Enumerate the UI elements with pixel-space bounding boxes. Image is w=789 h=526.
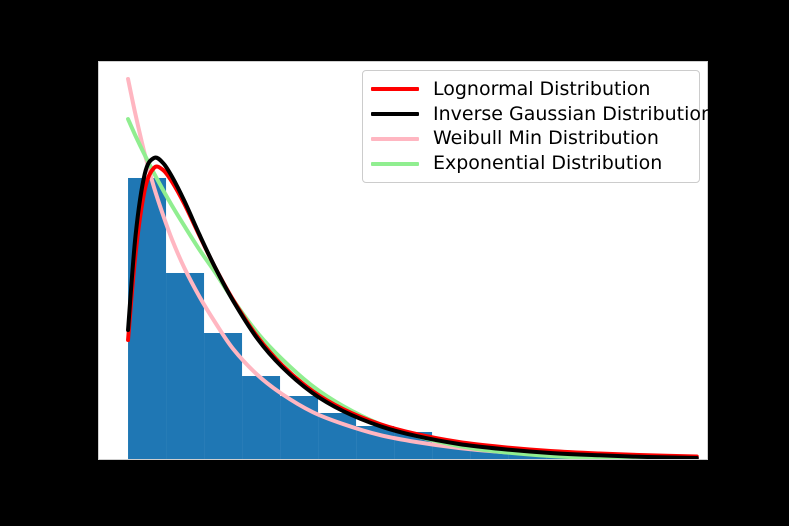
legend-swatch-weibull-min (371, 137, 419, 141)
legend-label-weibull-min: Weibull Min Distribution (433, 129, 659, 148)
legend-swatch-exponential (371, 162, 419, 166)
legend-label-lognormal: Lognormal Distribution (433, 80, 650, 99)
histogram-bar (660, 459, 698, 460)
histogram-bar (166, 273, 204, 460)
legend-swatch-lognormal (371, 87, 419, 91)
chart-canvas: Lognormal Distribution Inverse Gaussian … (0, 0, 789, 526)
chart-legend: Lognormal Distribution Inverse Gaussian … (362, 70, 700, 183)
legend-swatch-inverse-gaussian (371, 112, 419, 116)
legend-item-weibull-min[interactable]: Weibull Min Distribution (371, 127, 689, 152)
legend-item-exponential[interactable]: Exponential Distribution (371, 151, 689, 176)
legend-item-inverse-gaussian[interactable]: Inverse Gaussian Distribution (371, 102, 689, 127)
legend-label-exponential: Exponential Distribution (433, 154, 662, 173)
legend-item-lognormal[interactable]: Lognormal Distribution (371, 77, 689, 102)
legend-label-inverse-gaussian: Inverse Gaussian Distribution (433, 105, 713, 124)
histogram-bar (128, 178, 166, 460)
